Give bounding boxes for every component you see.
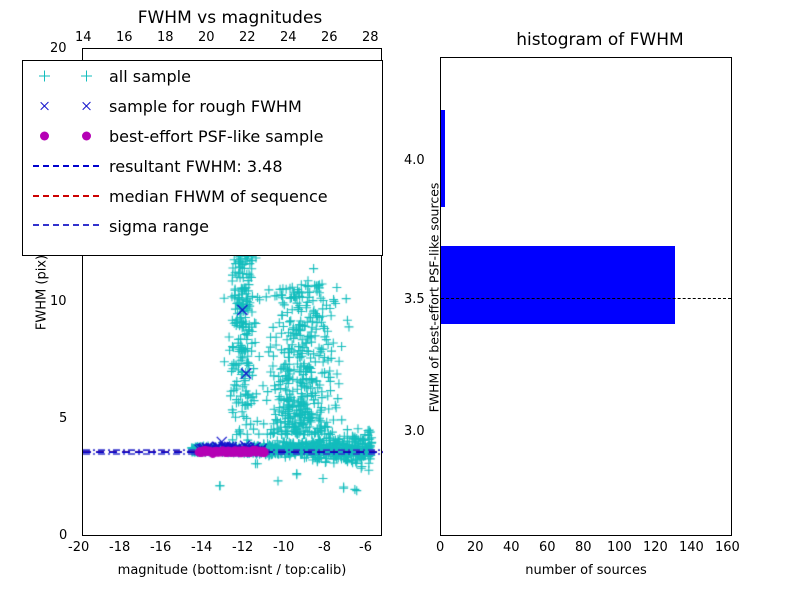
hist-xtick-4: 80 — [575, 540, 592, 555]
legend-item-median: median FHWM of sequence — [23, 181, 382, 211]
xtick-bot-2: -16 — [150, 540, 171, 555]
histogram-bar — [441, 133, 445, 208]
right-ylabel: FWHM of best-effort PSF-like sources — [427, 118, 442, 478]
xtick-bot-3: -14 — [191, 540, 212, 555]
xtick-bot-7: -6 — [359, 540, 372, 555]
ytick-0: 0 — [59, 528, 67, 543]
hist-xtick-1: 20 — [467, 540, 484, 555]
plus-icon — [39, 71, 50, 82]
ytick-2: 10 — [50, 294, 67, 309]
right-panel-title: histogram of FWHM — [440, 30, 760, 50]
x-marker-icon — [39, 101, 50, 112]
dashed-line-icon — [33, 195, 99, 197]
hist-ytick-1: 3.5 — [404, 292, 425, 307]
legend-symbol-blue-dash — [23, 151, 109, 181]
legend-symbol-plus — [23, 61, 109, 91]
legend-item-all-sample: all sample — [23, 61, 382, 91]
circle-marker-icon — [82, 132, 91, 141]
xtick-bot-0: -20 — [68, 540, 89, 555]
hist-xtick-0: 0 — [436, 540, 444, 555]
xtick-top-0: 14 — [75, 30, 92, 45]
legend-label-all-sample: all sample — [109, 67, 191, 86]
histogram-bars — [441, 58, 731, 535]
legend-symbol-red-dash — [23, 181, 109, 211]
hist-ytick-0: 3.0 — [404, 424, 425, 439]
legend-label-psf-like: best-effort PSF-like sample — [109, 127, 323, 146]
legend-item-resultant: resultant FWHM: 3.48 — [23, 151, 382, 181]
legend-symbol-dashdot — [23, 211, 109, 241]
xtick-top-6: 26 — [321, 30, 338, 45]
xtick-top-3: 20 — [198, 30, 215, 45]
hist-xtick-3: 60 — [539, 540, 556, 555]
legend-item-psf-like: best-effort PSF-like sample — [23, 121, 382, 151]
plus-icon — [81, 71, 92, 82]
dashed-line-icon — [33, 165, 99, 167]
left-panel-title: FWHM vs magnitudes — [70, 8, 390, 28]
legend-item-sigma: sigma range — [23, 211, 382, 241]
ytick-1: 5 — [59, 411, 67, 426]
xtick-top-1: 16 — [116, 30, 133, 45]
legend-label-resultant: resultant FWHM: 3.48 — [109, 157, 283, 176]
histogram-bar — [441, 110, 445, 133]
legend-label-median: median FHWM of sequence — [109, 187, 328, 206]
xtick-top-7: 28 — [362, 30, 379, 45]
xtick-bot-5: -10 — [273, 540, 294, 555]
xtick-bot-6: -8 — [318, 540, 331, 555]
hist-xtick-5: 100 — [607, 540, 632, 555]
hist-xtick-7: 140 — [679, 540, 704, 555]
dash-dot-line-icon — [33, 224, 99, 228]
legend-symbol-x — [23, 91, 109, 121]
hist-xtick-2: 40 — [503, 540, 520, 555]
hist-ytick-2: 4.0 — [404, 153, 425, 168]
legend-label-sigma: sigma range — [109, 217, 209, 236]
xtick-top-5: 24 — [280, 30, 297, 45]
ytick-4: 20 — [50, 41, 67, 56]
hist-xtick-6: 120 — [643, 540, 668, 555]
legend-symbol-dot — [23, 121, 109, 151]
legend-label-rough-fwhm: sample for rough FWHM — [109, 97, 302, 116]
circle-marker-icon — [40, 132, 49, 141]
median-line — [441, 298, 731, 299]
xtick-bot-4: -12 — [232, 540, 253, 555]
xtick-bot-1: -18 — [109, 540, 130, 555]
histogram-plot-area — [440, 57, 732, 536]
left-xlabel: magnitude (bottom:isnt / top:calib) — [82, 563, 382, 578]
right-xlabel: number of sources — [440, 563, 732, 578]
hist-xtick-8: 160 — [715, 540, 740, 555]
legend: all sample sample for rough FWHM best-ef… — [22, 60, 383, 256]
xtick-top-2: 18 — [157, 30, 174, 45]
x-marker-icon — [81, 101, 92, 112]
xtick-top-4: 22 — [239, 30, 256, 45]
legend-item-rough-fwhm: sample for rough FWHM — [23, 91, 382, 121]
histogram-bar — [441, 246, 675, 324]
